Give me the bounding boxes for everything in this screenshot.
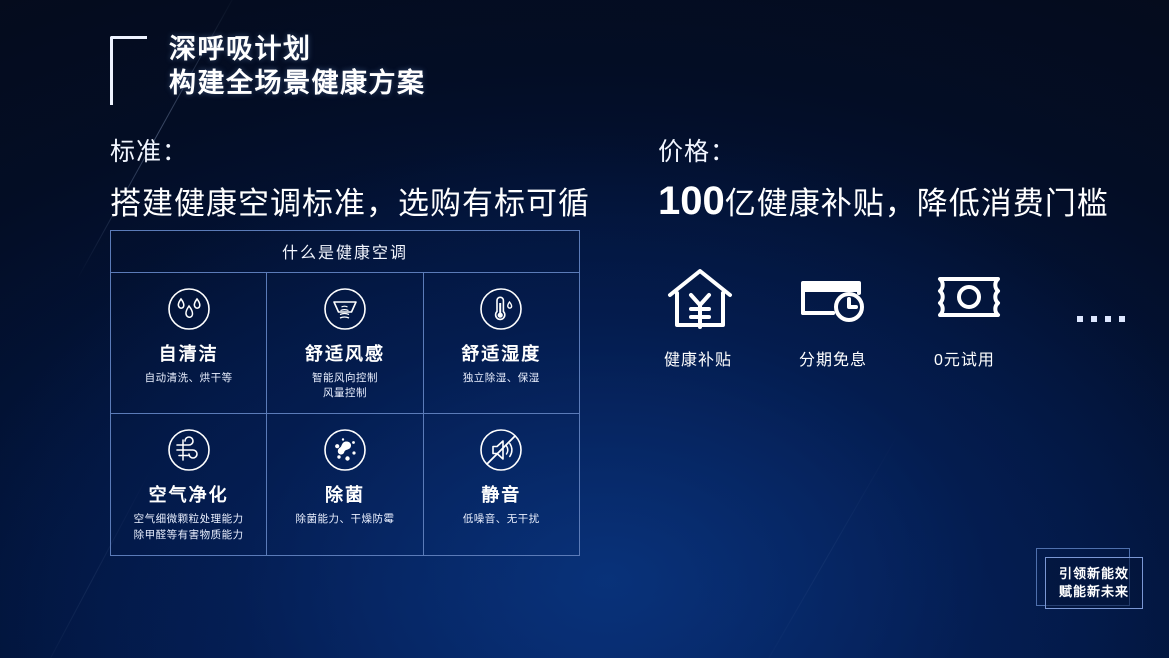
feature-desc: 独立除湿、保湿 xyxy=(428,371,575,386)
house-yen-icon xyxy=(660,262,795,334)
right-column: 价格： 100亿健康补贴，降低消费门槛 xyxy=(658,132,1138,224)
ellipsis-dot xyxy=(1077,316,1083,322)
feature-desc-line: 自动清洗、烘干等 xyxy=(115,371,262,386)
feature-cell-silence[interactable]: 静音 低噪音、无干扰 xyxy=(424,414,579,554)
ellipsis-dot xyxy=(1091,316,1097,322)
feature-cell-sterilization[interactable]: 除菌 除菌能力、干燥防霉 xyxy=(267,414,423,554)
slogan-badge: 引领新能效 赋能新未来 xyxy=(1036,548,1146,614)
price-kicker: 价格： xyxy=(658,132,1138,168)
airflow-vent-icon xyxy=(271,286,418,332)
wind-swirl-icon xyxy=(115,427,262,473)
feature-desc: 低噪音、无干扰 xyxy=(428,512,575,527)
ellipsis-more-indicator xyxy=(1077,316,1125,322)
feature-desc: 除菌能力、干燥防霉 xyxy=(271,512,418,527)
mute-speaker-icon xyxy=(428,427,575,473)
table-header-title: 什么是健康空调 xyxy=(111,231,579,273)
standard-headline: 搭建健康空调标准，选购有标可循 xyxy=(110,178,630,223)
feature-title: 自清洁 xyxy=(115,340,262,366)
feature-desc: 智能风向控制 风量控制 xyxy=(271,371,418,401)
credit-card-clock-icon xyxy=(795,262,930,334)
health-ac-feature-table: 什么是健康空调 自清洁 自动清洗、烘干等 xyxy=(110,230,580,556)
price-headline-rest: 亿健康补贴，降低消费门槛 xyxy=(725,186,1109,221)
feature-desc: 自动清洗、烘干等 xyxy=(115,371,262,386)
ellipsis-dot xyxy=(1119,316,1125,322)
benefit-list: 健康补贴 分期免息 0元试用 xyxy=(660,262,1125,370)
feature-cell-comfort-wind[interactable]: 舒适风感 智能风向控制 风量控制 xyxy=(267,273,423,413)
feature-cell-self-clean[interactable]: 自清洁 自动清洗、烘干等 xyxy=(111,273,267,413)
slide-canvas: 深呼吸计划 构建全场景健康方案 标准： 搭建健康空调标准，选购有标可循 什么是健… xyxy=(0,0,1169,658)
benefit-label: 健康补贴 xyxy=(660,346,795,370)
feature-desc-line: 空气细微颗粒处理能力 xyxy=(115,512,262,527)
benefit-item-free-trial[interactable]: 0元试用 xyxy=(930,262,1065,370)
feature-title: 舒适风感 xyxy=(271,340,418,366)
feature-desc-line: 低噪音、无干扰 xyxy=(428,512,575,527)
feature-desc-line: 除甲醛等有害物质能力 xyxy=(115,528,262,543)
feature-desc-line: 风量控制 xyxy=(271,386,418,401)
feature-cell-air-purification[interactable]: 空气净化 空气细微颗粒处理能力 除甲醛等有害物质能力 xyxy=(111,414,267,554)
feature-desc: 空气细微颗粒处理能力 除甲醛等有害物质能力 xyxy=(115,512,262,542)
feature-desc-line: 独立除湿、保湿 xyxy=(428,371,575,386)
left-column: 标准： 搭建健康空调标准，选购有标可循 xyxy=(110,132,630,223)
badge-line-2: 赋能新未来 xyxy=(1059,583,1129,601)
page-title: 深呼吸计划 构建全场景健康方案 xyxy=(169,32,426,100)
water-droplets-icon xyxy=(115,286,262,332)
price-amount: 100 xyxy=(658,179,725,223)
slide-header: 深呼吸计划 构建全场景健康方案 xyxy=(110,32,426,105)
benefit-label: 分期免息 xyxy=(795,346,930,370)
title-line-2: 构建全场景健康方案 xyxy=(169,66,426,100)
ellipsis-dot xyxy=(1105,316,1111,322)
feature-title: 静音 xyxy=(428,481,575,507)
feature-title: 舒适湿度 xyxy=(428,340,575,366)
thermometer-humidity-icon xyxy=(428,286,575,332)
badge-inner-frame: 引领新能效 赋能新未来 xyxy=(1045,557,1143,609)
benefit-item-installment[interactable]: 分期免息 xyxy=(795,262,930,370)
background-light-streak xyxy=(750,430,901,658)
feature-cell-comfort-humidity[interactable]: 舒适湿度 独立除湿、保湿 xyxy=(424,273,579,413)
title-line-1: 深呼吸计划 xyxy=(169,32,426,66)
coupon-ticket-icon xyxy=(930,262,1065,334)
table-row: 空气净化 空气细微颗粒处理能力 除甲醛等有害物质能力 xyxy=(111,414,579,554)
benefit-item-subsidy[interactable]: 健康补贴 xyxy=(660,262,795,370)
table-row: 自清洁 自动清洗、烘干等 舒适风感 xyxy=(111,273,579,414)
feature-title: 空气净化 xyxy=(115,481,262,507)
corner-bracket-icon xyxy=(110,36,147,105)
feature-title: 除菌 xyxy=(271,481,418,507)
price-headline: 100亿健康补贴，降低消费门槛 xyxy=(658,178,1138,224)
bacteria-icon xyxy=(271,427,418,473)
benefit-label: 0元试用 xyxy=(930,346,1065,370)
feature-desc-line: 智能风向控制 xyxy=(271,371,418,386)
standard-kicker: 标准： xyxy=(110,132,630,168)
badge-line-1: 引领新能效 xyxy=(1059,565,1129,583)
feature-desc-line: 除菌能力、干燥防霉 xyxy=(271,512,418,527)
